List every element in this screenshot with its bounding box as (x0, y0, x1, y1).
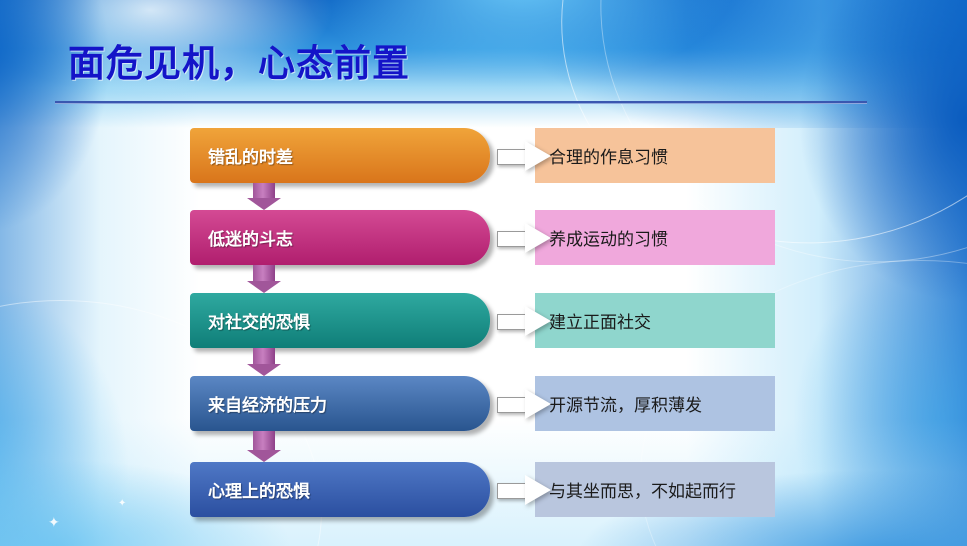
flow-connector (253, 431, 275, 451)
flow-connector (253, 183, 275, 199)
problem-label: 低迷的斗志 (208, 225, 293, 250)
right-arrow-icon (497, 475, 551, 505)
solution-box[interactable]: 与其坐而思，不如起而行 (535, 462, 775, 517)
problem-box[interactable]: 来自经济的压力 (190, 376, 490, 431)
right-arrow-icon (497, 223, 551, 253)
problem-label: 心理上的恐惧 (208, 477, 310, 502)
problem-box[interactable]: 心理上的恐惧 (190, 462, 490, 517)
solution-label: 建立正面社交 (549, 308, 651, 333)
right-arrow-icon (497, 306, 551, 336)
page-title: 面危见机，心态前置 (68, 33, 410, 87)
flow-connector (253, 265, 275, 282)
problem-label: 来自经济的压力 (208, 391, 327, 416)
sparkle-icon: ✦ (118, 498, 126, 509)
title-divider (55, 101, 867, 104)
solution-label: 与其坐而思，不如起而行 (549, 477, 736, 502)
problem-box[interactable]: 错乱的时差 (190, 128, 490, 183)
solution-box[interactable]: 开源节流，厚积薄发 (535, 376, 775, 431)
problem-box[interactable]: 对社交的恐惧 (190, 293, 490, 348)
flow-connector (253, 348, 275, 365)
solution-box[interactable]: 建立正面社交 (535, 293, 775, 348)
solution-label: 开源节流，厚积薄发 (549, 391, 702, 416)
solution-box[interactable]: 合理的作息习惯 (535, 128, 775, 183)
problem-box[interactable]: 低迷的斗志 (190, 210, 490, 265)
problem-label: 错乱的时差 (208, 143, 293, 168)
solution-box[interactable]: 养成运动的习惯 (535, 210, 775, 265)
problem-label: 对社交的恐惧 (208, 308, 310, 333)
sparkle-icon: ✦ (48, 514, 60, 531)
right-arrow-icon (497, 389, 551, 419)
solution-label: 养成运动的习惯 (549, 225, 668, 250)
solution-label: 合理的作息习惯 (549, 143, 668, 168)
right-arrow-icon (497, 141, 551, 171)
slide-canvas: ✦ ✦ 面危见机，心态前置 合理的作息习惯错乱的时差养成运动的习惯低迷的斗志建立… (0, 0, 967, 546)
